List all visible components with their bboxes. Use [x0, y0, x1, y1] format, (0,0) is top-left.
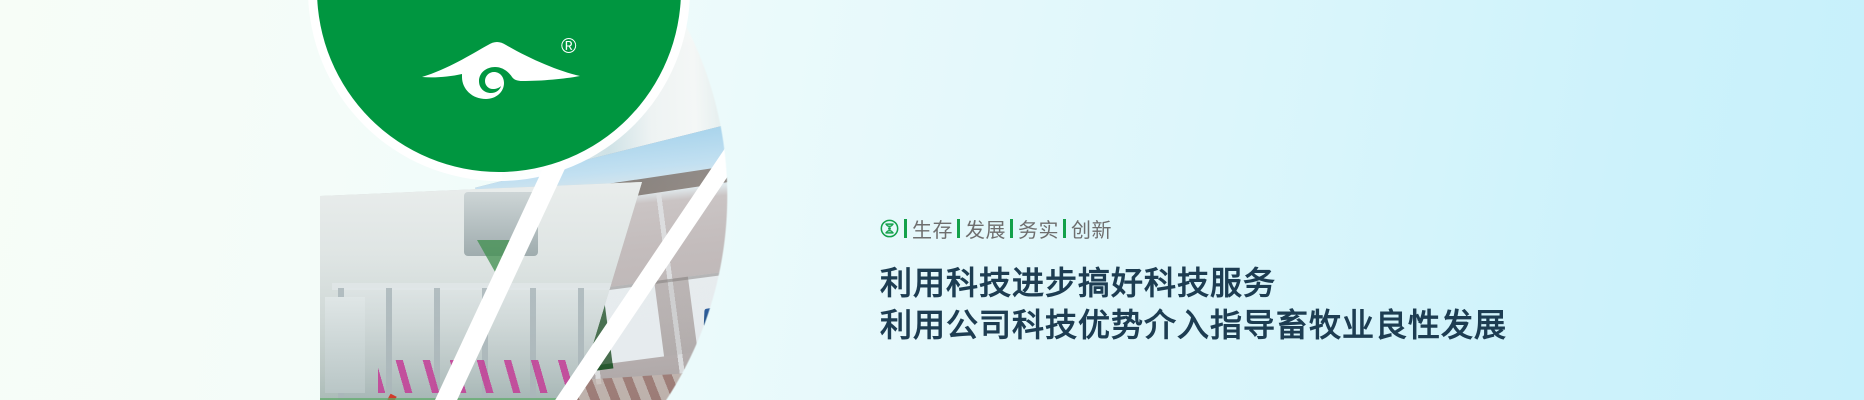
- headline-line-2: 利用公司科技优势介入指导畜牧业良性发展: [880, 305, 1640, 347]
- slogan-separator: [957, 219, 960, 238]
- slogan-separator: [1063, 219, 1066, 238]
- building-shrub: [819, 342, 874, 393]
- slogan-word-3: 务实: [1018, 214, 1059, 243]
- headline-line-1: 利用科技进步搞好科技服务: [880, 263, 1640, 305]
- slogan-row: 生存 发展 务实 创新: [880, 214, 1640, 243]
- bird-wave-logo-icon: [414, 39, 584, 101]
- hero-banner: ® 生存 发展 务实 创新 利用科技进步搞好科技服务 利用公司科技优势介入指导畜…: [0, 0, 1864, 400]
- machine-control-panel: [325, 297, 365, 393]
- registered-trademark-mark: ®: [561, 36, 576, 57]
- slogan-word-4: 创新: [1071, 214, 1112, 243]
- slogan-separator: [1010, 219, 1013, 238]
- banner-copy: 生存 发展 务实 创新 利用科技进步搞好科技服务 利用公司科技优势介入指导畜牧业…: [880, 214, 1640, 346]
- slogan-separator: [904, 219, 907, 238]
- slogan-word-1: 生存: [912, 214, 953, 243]
- green-circle-figure-icon: [880, 219, 899, 238]
- slogan-word-2: 发展: [965, 214, 1006, 243]
